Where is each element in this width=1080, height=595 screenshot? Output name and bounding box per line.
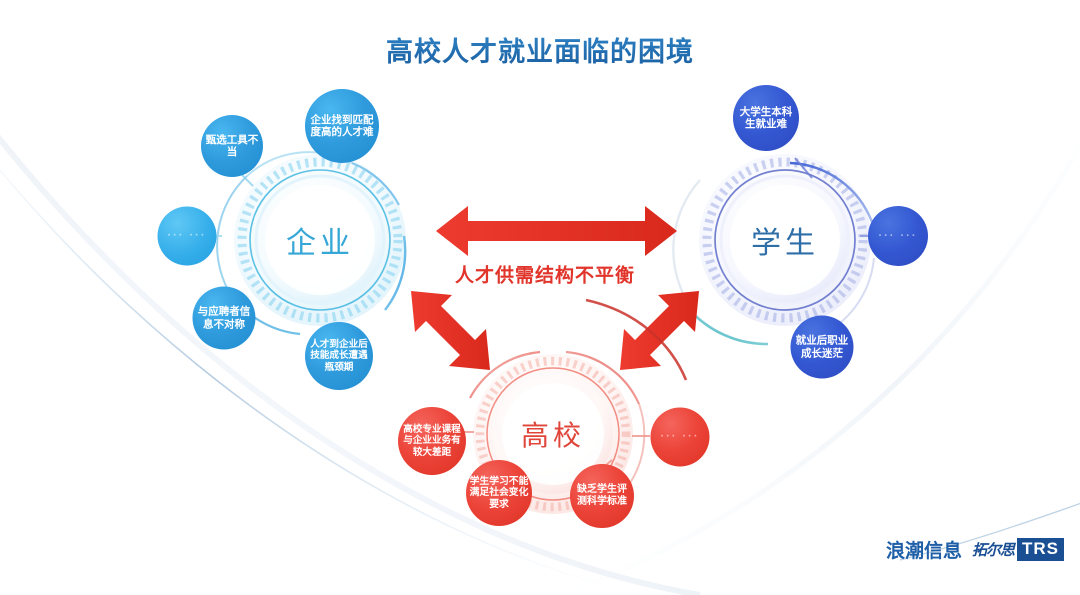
bubble-text: 就业后职业成长迷茫 xyxy=(794,335,851,360)
enterprise-issue-match[interactable]: 企业找到匹配度高的人才难 xyxy=(305,89,379,163)
college-issue-assessment[interactable]: 缺乏学生评测科学标准 xyxy=(570,464,634,528)
logo-bar: 浪潮信息 拓尔思 TRS xyxy=(886,536,1064,563)
bubble-text: 缺乏学生评测科学标准 xyxy=(573,484,631,508)
college-issue-more[interactable]: ··· ··· xyxy=(651,408,710,467)
arrow-right-diagonal-double xyxy=(620,291,699,370)
student-issue-more[interactable]: ··· ··· xyxy=(868,206,928,266)
bubble-text: 高校专业课程与企业业务有较大差距 xyxy=(401,424,463,458)
trs-logo-en: TRS xyxy=(1017,538,1064,561)
enterprise-issue-tools[interactable]: 甄选工具不当 xyxy=(201,115,263,177)
hub-student xyxy=(673,154,880,344)
bubble-text: 人才到企业后技能成长遭遇瓶颈期 xyxy=(308,339,370,373)
arrow-left-diagonal-double xyxy=(411,291,490,370)
student-issue-career[interactable]: 就业后职业成长迷茫 xyxy=(791,316,854,379)
diagram-graphics xyxy=(0,0,1080,595)
ellipsis-icon: ··· ··· xyxy=(660,431,699,444)
bubble-text: 与应聘者信息不对称 xyxy=(196,306,253,331)
enterprise-issue-growth[interactable]: 人才到企业后技能成长遭遇瓶颈期 xyxy=(305,322,373,390)
bubble-text: 大学生本科生就业难 xyxy=(736,106,796,131)
trs-logo-cn: 拓尔思 xyxy=(972,539,1014,560)
ellipsis-icon: ··· ··· xyxy=(167,230,206,243)
inspur-logo: 浪潮信息 xyxy=(886,536,962,563)
student-issue-employment[interactable]: 大学生本科生就业难 xyxy=(733,85,799,151)
college-issue-curriculum[interactable]: 高校专业课程与企业业务有较大差距 xyxy=(398,407,466,475)
center-caption: 人才供需结构不平衡 xyxy=(455,261,635,288)
college-issue-learning[interactable]: 学生学习不能满足社会变化要求 xyxy=(466,460,532,526)
bubble-text: 企业找到匹配度高的人才难 xyxy=(308,114,376,139)
slide-canvas: 高校人才就业面临的困境 xyxy=(0,0,1080,595)
bubble-text: 甄选工具不当 xyxy=(204,134,260,159)
bubble-text: 学生学习不能满足社会变化要求 xyxy=(469,476,529,511)
enterprise-issue-asym[interactable]: 与应聘者信息不对称 xyxy=(193,287,256,350)
trs-logo: 拓尔思 TRS xyxy=(972,538,1064,561)
ellipsis-icon: ··· ··· xyxy=(878,230,917,243)
enterprise-issue-more[interactable]: ··· ··· xyxy=(158,207,217,266)
arrow-horizontal-double xyxy=(436,206,677,256)
